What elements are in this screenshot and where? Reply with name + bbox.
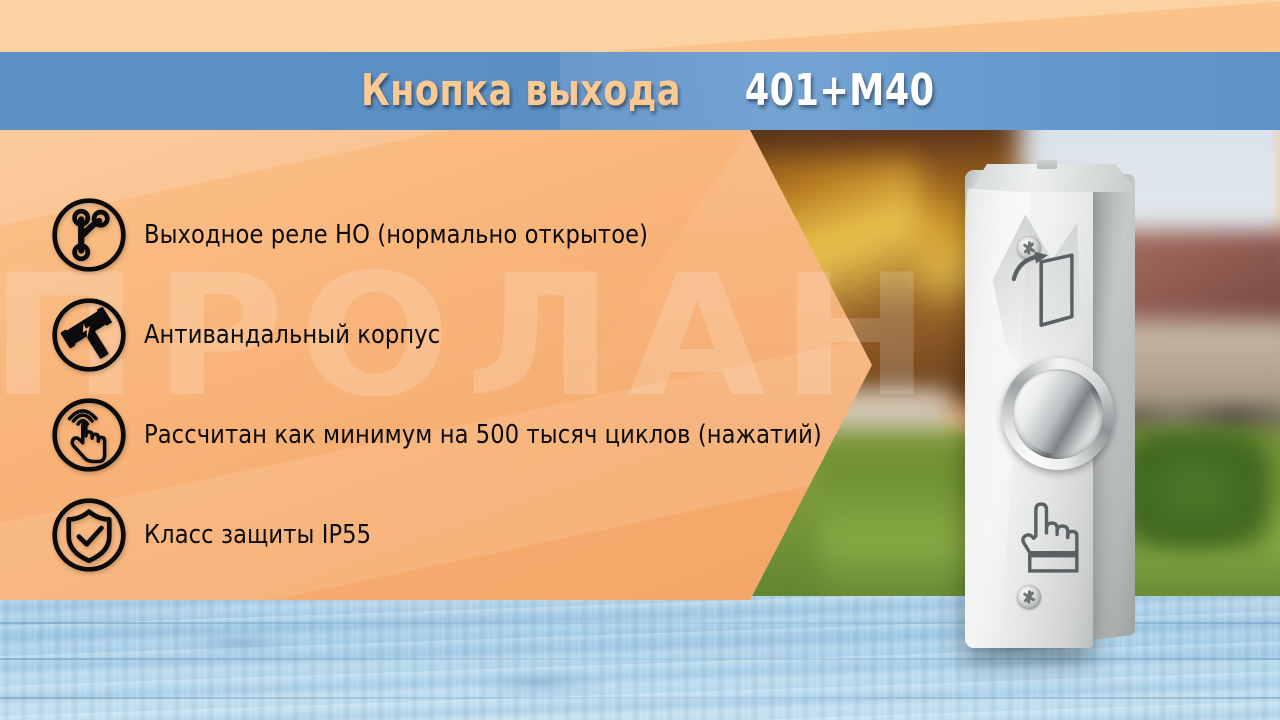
feature-label: Класс защиты IP55 xyxy=(144,520,371,550)
feature-item: Антивандальный корпус xyxy=(50,285,830,385)
hammer-icon xyxy=(50,296,128,374)
title-model-label: 401+М40 xyxy=(745,69,935,113)
feature-item: Выходное реле НО (нормально открытое) xyxy=(50,185,830,285)
feature-label: Выходное реле НО (нормально открытое) xyxy=(144,220,648,250)
shield-check-icon xyxy=(50,496,128,574)
wood-plank-seam xyxy=(0,697,1280,699)
device-top-nub xyxy=(1037,160,1057,169)
relay-branch-icon xyxy=(50,196,128,274)
title-product-label: Кнопка выхода xyxy=(361,69,681,113)
bottom-screw-icon xyxy=(1017,585,1041,609)
wood-knot xyxy=(470,668,610,698)
feature-label: Рассчитан как минимум на 500 тысяч цикло… xyxy=(144,420,822,450)
feature-item: Класс защиты IP55 xyxy=(50,485,830,585)
page-title: Кнопка выхода 401+М40 xyxy=(0,58,1280,124)
open-door-icon xyxy=(1005,250,1091,332)
feature-list: Выходное реле НО (нормально открытое) Ан… xyxy=(50,185,830,585)
banner-root: ПРОЛАН Кнопка выхода 401+М40 Выходное ре… xyxy=(0,0,1280,720)
round-metal-button[interactable] xyxy=(1002,358,1114,470)
wood-knot xyxy=(180,630,300,656)
feature-label: Антивандальный корпус xyxy=(144,320,440,350)
touch-hand-icon xyxy=(50,396,128,474)
feature-item: Рассчитан как минимум на 500 тысяч цикло… xyxy=(50,385,830,485)
pointing-hand-icon xyxy=(1010,498,1086,580)
